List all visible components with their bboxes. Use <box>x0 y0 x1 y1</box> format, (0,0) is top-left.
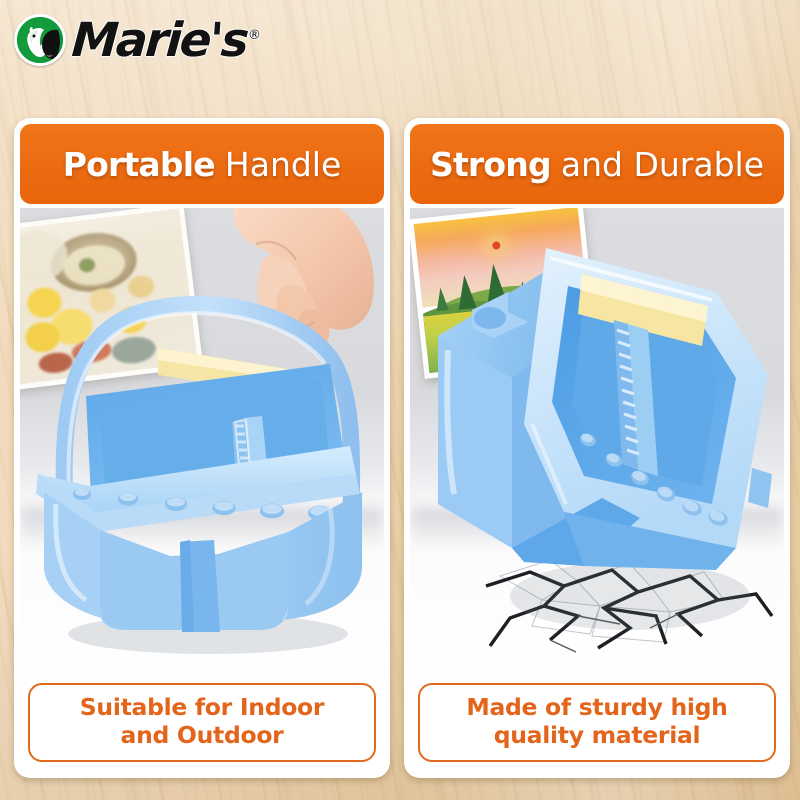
caption-right: Made of sturdy high quality material <box>418 683 776 762</box>
banner-light-right: and Durable <box>561 145 764 184</box>
feature-banner-right: Strong and Durable <box>410 124 784 204</box>
feature-card-strong-durable: Strong and Durable <box>404 118 790 778</box>
caption-right-line2: quality material <box>426 722 768 749</box>
banner-text-left: Portable Handle <box>20 148 384 181</box>
feature-card-portable-handle: Portable Handle <box>14 118 390 778</box>
horse-head-roundel-icon <box>14 14 66 66</box>
banner-light-left: Handle <box>225 145 341 184</box>
caption-left-line2: and Outdoor <box>36 722 368 749</box>
caption-right-line1: Made of sturdy high <box>426 694 768 721</box>
caption-left-line1: Suitable for Indoor <box>36 694 368 721</box>
banner-strong-right: Strong <box>430 145 551 184</box>
brand-name: Marie's <box>70 13 248 68</box>
banner-text-right: Strong and Durable <box>410 148 784 181</box>
caption-left: Suitable for Indoor and Outdoor <box>28 683 376 762</box>
feature-photo-right <box>410 208 784 700</box>
brand-wordmark: Marie's® <box>70 17 262 64</box>
banner-strong-left: Portable <box>63 145 215 184</box>
brush-washer-bucket-tilted <box>416 218 784 638</box>
product-feature-image: Marie's® Portable Handle <box>0 0 800 800</box>
brush-washer-bucket-upright <box>30 236 382 666</box>
feature-photo-left <box>20 208 384 700</box>
brand-logo: Marie's® <box>14 14 261 66</box>
trademark-symbol: ® <box>247 28 261 43</box>
feature-banner-left: Portable Handle <box>20 124 384 204</box>
